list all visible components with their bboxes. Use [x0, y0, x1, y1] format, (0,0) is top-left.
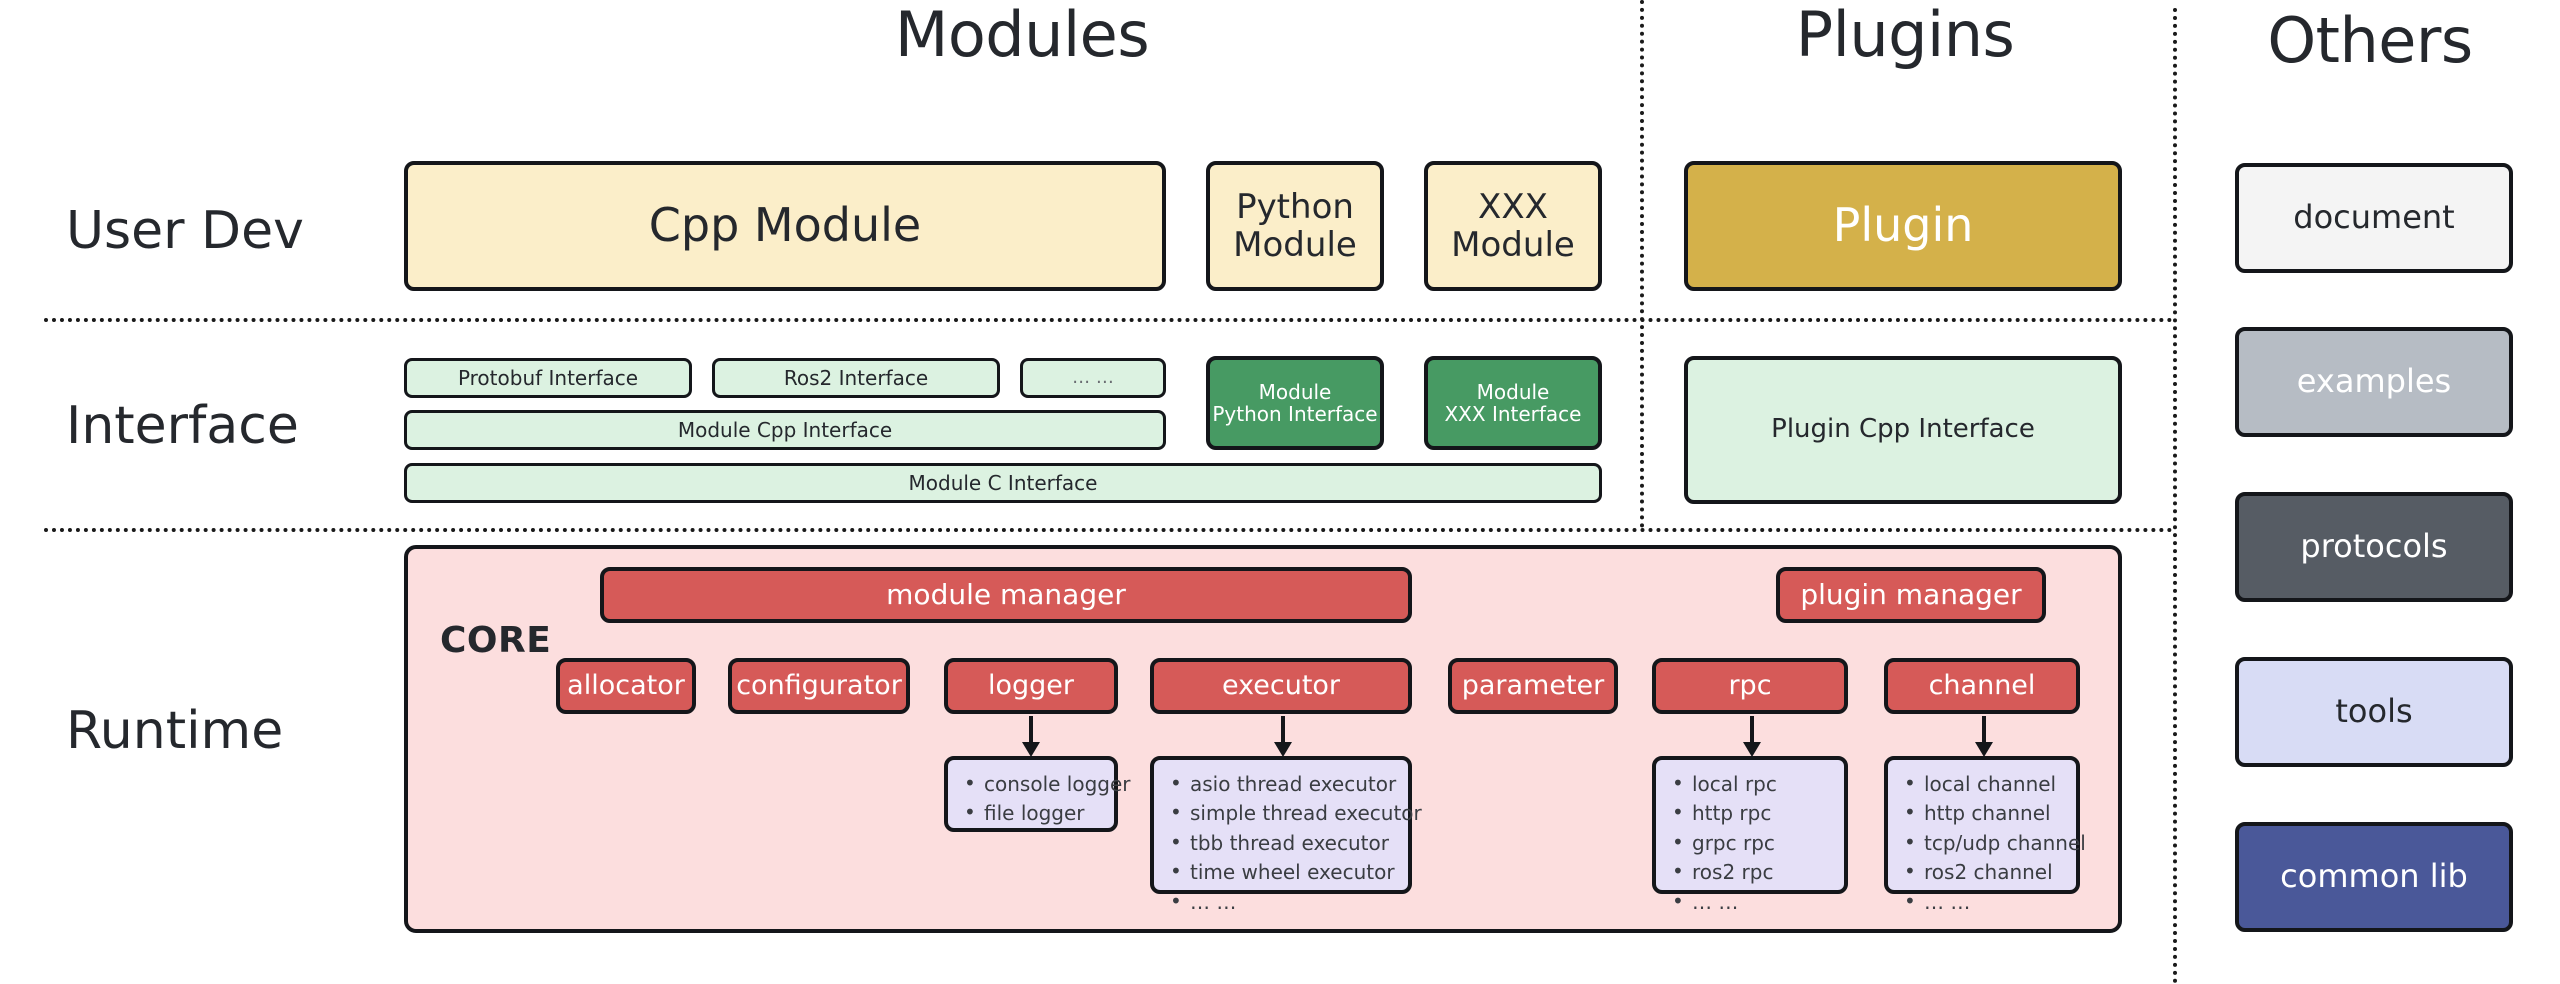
- node-plugin[interactable]: Plugin: [1684, 161, 2122, 291]
- node-module-cpp-interface[interactable]: Module Cpp Interface: [404, 410, 1166, 450]
- divider-userdev-interface: [44, 318, 2174, 322]
- node-module-cpp-interface-label: Module Cpp Interface: [678, 419, 892, 441]
- node-others-common-lib[interactable]: common lib: [2235, 822, 2513, 932]
- node-ros2-interface-label: Ros2 Interface: [784, 367, 928, 389]
- node-channel[interactable]: channel: [1884, 658, 2080, 714]
- arrow-down-icon: [1270, 714, 1296, 758]
- node-module-manager[interactable]: module manager: [600, 567, 1412, 623]
- node-module-xxx-interface-label-line1: Module: [1477, 381, 1550, 403]
- list-item: local rpc: [1666, 770, 1830, 799]
- arrow-down-icon: [1739, 714, 1765, 758]
- divider-modules-plugins: [1640, 0, 1644, 528]
- arrow-rpc-to-details: [1737, 714, 1767, 760]
- node-executor[interactable]: executor: [1150, 658, 1412, 714]
- node-others-document-label: document: [2293, 200, 2454, 236]
- node-python-module-label-line2: Module: [1233, 226, 1357, 264]
- node-others-common-lib-label: common lib: [2280, 859, 2468, 895]
- node-python-module[interactable]: Python Module: [1206, 161, 1384, 291]
- node-plugin-manager-label: plugin manager: [1800, 579, 2021, 610]
- list-item: console logger: [958, 770, 1100, 799]
- node-python-module-label-line1: Python: [1236, 188, 1354, 226]
- column-title-modules: Modules: [404, 4, 1640, 66]
- list-item: http channel: [1898, 799, 2062, 828]
- row-label-user-dev: User Dev: [66, 205, 304, 257]
- list-item: … …: [1898, 888, 2062, 917]
- core-panel-label: CORE: [440, 620, 551, 661]
- node-others-examples-label: examples: [2297, 364, 2451, 400]
- list-item: grpc rpc: [1666, 829, 1830, 858]
- node-cpp-module-label: Cpp Module: [649, 200, 921, 252]
- node-others-protocols-label: protocols: [2300, 529, 2447, 565]
- node-executor-label: executor: [1222, 671, 1340, 701]
- node-module-xxx-interface-label-line2: XXX Interface: [1444, 403, 1581, 425]
- node-module-python-interface[interactable]: Module Python Interface: [1206, 356, 1384, 450]
- node-others-protocols[interactable]: protocols: [2235, 492, 2513, 602]
- node-allocator[interactable]: allocator: [556, 658, 696, 714]
- list-item: … …: [1164, 888, 1394, 917]
- node-module-python-interface-label-line1: Module: [1259, 381, 1332, 403]
- node-parameter[interactable]: parameter: [1448, 658, 1618, 714]
- divider-interface-runtime: [44, 528, 2174, 532]
- arrow-channel-to-details: [1969, 714, 1999, 760]
- rpc-details-list: local rpc http rpc grpc rpc ros2 rpc … …: [1666, 770, 1830, 917]
- node-protobuf-interface-label: Protobuf Interface: [458, 367, 638, 389]
- node-plugin-cpp-interface[interactable]: Plugin Cpp Interface: [1684, 356, 2122, 504]
- list-logger-details: console logger file logger: [944, 756, 1118, 832]
- list-item: local channel: [1898, 770, 2062, 799]
- list-item: tbb thread executor: [1164, 829, 1394, 858]
- list-item: http rpc: [1666, 799, 1830, 828]
- list-item: asio thread executor: [1164, 770, 1394, 799]
- architecture-diagram: Modules Plugins Others User Dev Interfac…: [0, 0, 2560, 984]
- node-configurator[interactable]: configurator: [728, 658, 910, 714]
- node-ros2-interface[interactable]: Ros2 Interface: [712, 358, 1000, 398]
- list-item: ros2 rpc: [1666, 858, 1830, 887]
- node-protobuf-interface[interactable]: Protobuf Interface: [404, 358, 692, 398]
- node-channel-label: channel: [1929, 671, 2036, 701]
- channel-details-list: local channel http channel tcp/udp chann…: [1898, 770, 2062, 917]
- node-module-c-interface-label: Module C Interface: [909, 472, 1098, 494]
- list-item: simple thread executor: [1164, 799, 1394, 828]
- row-label-runtime: Runtime: [66, 705, 283, 757]
- node-logger[interactable]: logger: [944, 658, 1118, 714]
- node-cpp-module[interactable]: Cpp Module: [404, 161, 1166, 291]
- arrow-down-icon: [1971, 714, 1997, 758]
- node-interface-ellipsis[interactable]: … …: [1020, 358, 1166, 398]
- row-label-interface: Interface: [66, 400, 299, 452]
- node-module-xxx-interface[interactable]: Module XXX Interface: [1424, 356, 1602, 450]
- divider-plugins-others: [2173, 8, 2177, 984]
- list-item: time wheel executor: [1164, 858, 1394, 887]
- node-plugin-label: Plugin: [1833, 200, 1974, 252]
- node-parameter-label: parameter: [1462, 671, 1605, 701]
- list-channel-details: local channel http channel tcp/udp chann…: [1884, 756, 2080, 894]
- node-module-manager-label: module manager: [886, 579, 1126, 610]
- node-xxx-module-label-line2: Module: [1451, 226, 1575, 264]
- node-allocator-label: allocator: [567, 671, 685, 701]
- list-rpc-details: local rpc http rpc grpc rpc ros2 rpc … …: [1652, 756, 1848, 894]
- logger-details-list: console logger file logger: [958, 770, 1100, 829]
- arrow-logger-to-details: [1016, 714, 1046, 760]
- node-xxx-module[interactable]: XXX Module: [1424, 161, 1602, 291]
- node-others-tools-label: tools: [2335, 694, 2412, 730]
- list-item: ros2 channel: [1898, 858, 2062, 887]
- column-title-plugins: Plugins: [1650, 4, 2160, 66]
- column-title-others: Others: [2190, 10, 2550, 72]
- arrow-executor-to-details: [1268, 714, 1298, 760]
- node-rpc-label: rpc: [1728, 671, 1771, 701]
- list-item: file logger: [958, 799, 1100, 828]
- list-executor-details: asio thread executor simple thread execu…: [1150, 756, 1412, 894]
- node-configurator-label: configurator: [736, 671, 902, 701]
- node-plugin-cpp-interface-label: Plugin Cpp Interface: [1771, 415, 2035, 444]
- node-interface-ellipsis-label: … …: [1072, 368, 1114, 388]
- node-others-examples[interactable]: examples: [2235, 327, 2513, 437]
- executor-details-list: asio thread executor simple thread execu…: [1164, 770, 1394, 917]
- node-module-c-interface[interactable]: Module C Interface: [404, 463, 1602, 503]
- arrow-down-icon: [1018, 714, 1044, 758]
- node-others-document[interactable]: document: [2235, 163, 2513, 273]
- list-item: tcp/udp channel: [1898, 829, 2062, 858]
- node-xxx-module-label-line1: XXX: [1478, 188, 1548, 226]
- node-module-python-interface-label-line2: Python Interface: [1212, 403, 1377, 425]
- node-logger-label: logger: [988, 671, 1074, 701]
- node-rpc[interactable]: rpc: [1652, 658, 1848, 714]
- node-others-tools[interactable]: tools: [2235, 657, 2513, 767]
- list-item: … …: [1666, 888, 1830, 917]
- node-plugin-manager[interactable]: plugin manager: [1776, 567, 2046, 623]
